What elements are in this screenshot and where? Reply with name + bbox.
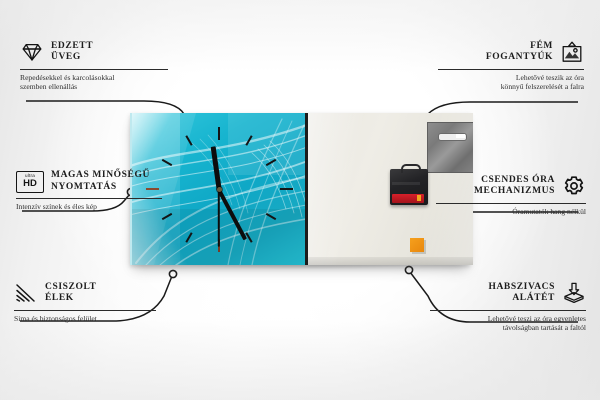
callout-polished-edges[interactable]: CSISZOLT ÉLEK Sima és biztonságos felüle… xyxy=(14,281,192,323)
ultra-hd-large-label: HD xyxy=(23,179,37,189)
clock-tick xyxy=(266,213,277,220)
hanger-slot xyxy=(438,133,467,141)
callout-rule xyxy=(20,69,168,70)
callout-tempered-glass[interactable]: EDZETT ÜVEG Repedésekkel és karcolásokka… xyxy=(20,40,198,92)
callout-title: CSISZOLT ÉLEK xyxy=(45,282,96,305)
clock-tick xyxy=(162,159,173,166)
foam-spacer-pad xyxy=(410,238,424,252)
callout-title: MAGAS MINŐSÉGŰ NYOMTATÁS xyxy=(51,170,150,193)
callout-header: FÉM FOGANTYÚK xyxy=(404,40,584,64)
picture-hanger-icon xyxy=(560,40,584,64)
callout-rule xyxy=(14,310,156,311)
metal-hanger-plate xyxy=(427,122,473,173)
callout-foam-pad[interactable]: HABSZIVACS ALÁTÉT Lehetővé teszi az óra … xyxy=(398,281,586,333)
clock-tick xyxy=(280,188,293,190)
callout-high-quality-print[interactable]: ultra HD MAGAS MINŐSÉGŰ NYOMTATÁS Intenz… xyxy=(16,170,202,211)
callout-title: CSENDES ÓRA MECHANIZMUS xyxy=(474,175,555,198)
callout-title: FÉM FOGANTYÚK xyxy=(486,41,553,64)
callout-header: HABSZIVACS ALÁTÉT xyxy=(398,281,586,305)
clock-second-hand xyxy=(218,189,220,247)
callout-subtitle: Lehetővé teszik az óra könnyű felszerelé… xyxy=(404,73,584,92)
callout-rule xyxy=(16,198,162,199)
callout-subtitle: Óramutatók hang nélkül xyxy=(400,207,586,216)
callout-subtitle: Intenzív színek és éles kép xyxy=(16,202,202,211)
callout-title: HABSZIVACS ALÁTÉT xyxy=(488,282,555,305)
product-shadow xyxy=(124,263,476,279)
clock-tick xyxy=(185,232,192,243)
callout-title: EDZETT ÜVEG xyxy=(51,41,93,64)
clock-tick xyxy=(185,135,192,146)
clock-tick xyxy=(162,213,173,220)
clock-tick xyxy=(218,127,220,140)
callout-subtitle: Repedésekkel és karcolásokkal szemben el… xyxy=(20,73,198,92)
clock-center-pivot xyxy=(217,187,222,192)
movement-handle xyxy=(401,164,421,173)
clock-minute-hand xyxy=(217,189,247,240)
clock-tick xyxy=(266,159,277,166)
callout-rule xyxy=(430,310,586,311)
gear-icon xyxy=(562,174,586,198)
panel-bottom-edge xyxy=(308,257,473,265)
clock-tick xyxy=(245,135,252,146)
infographic-canvas: EDZETT ÜVEG Repedésekkel és karcolásokka… xyxy=(0,0,600,400)
clock-hour-hand xyxy=(211,146,222,190)
callout-header: EDZETT ÜVEG xyxy=(20,40,198,64)
callout-rule xyxy=(438,69,584,70)
ultra-hd-icon: ultra HD xyxy=(16,171,44,193)
callout-rule xyxy=(436,203,586,204)
callout-silent-mechanism[interactable]: CSENDES ÓRA MECHANIZMUS Óramutatók hang … xyxy=(400,174,586,216)
diamond-icon xyxy=(20,40,44,64)
callout-subtitle: Lehetővé teszi az óra egyenletes távolsá… xyxy=(398,314,586,333)
callout-metal-hangers[interactable]: FÉM FOGANTYÚK Lehetővé teszik az óra kön… xyxy=(404,40,584,92)
polished-edges-icon xyxy=(14,281,38,305)
callout-header: CSISZOLT ÉLEK xyxy=(14,281,192,305)
callout-header: ultra HD MAGAS MINŐSÉGŰ NYOMTATÁS xyxy=(16,170,202,193)
callout-header: CSENDES ÓRA MECHANIZMUS xyxy=(400,174,586,198)
foam-pad-icon xyxy=(562,281,586,305)
callout-subtitle: Sima és biztonságos felület xyxy=(14,314,192,323)
